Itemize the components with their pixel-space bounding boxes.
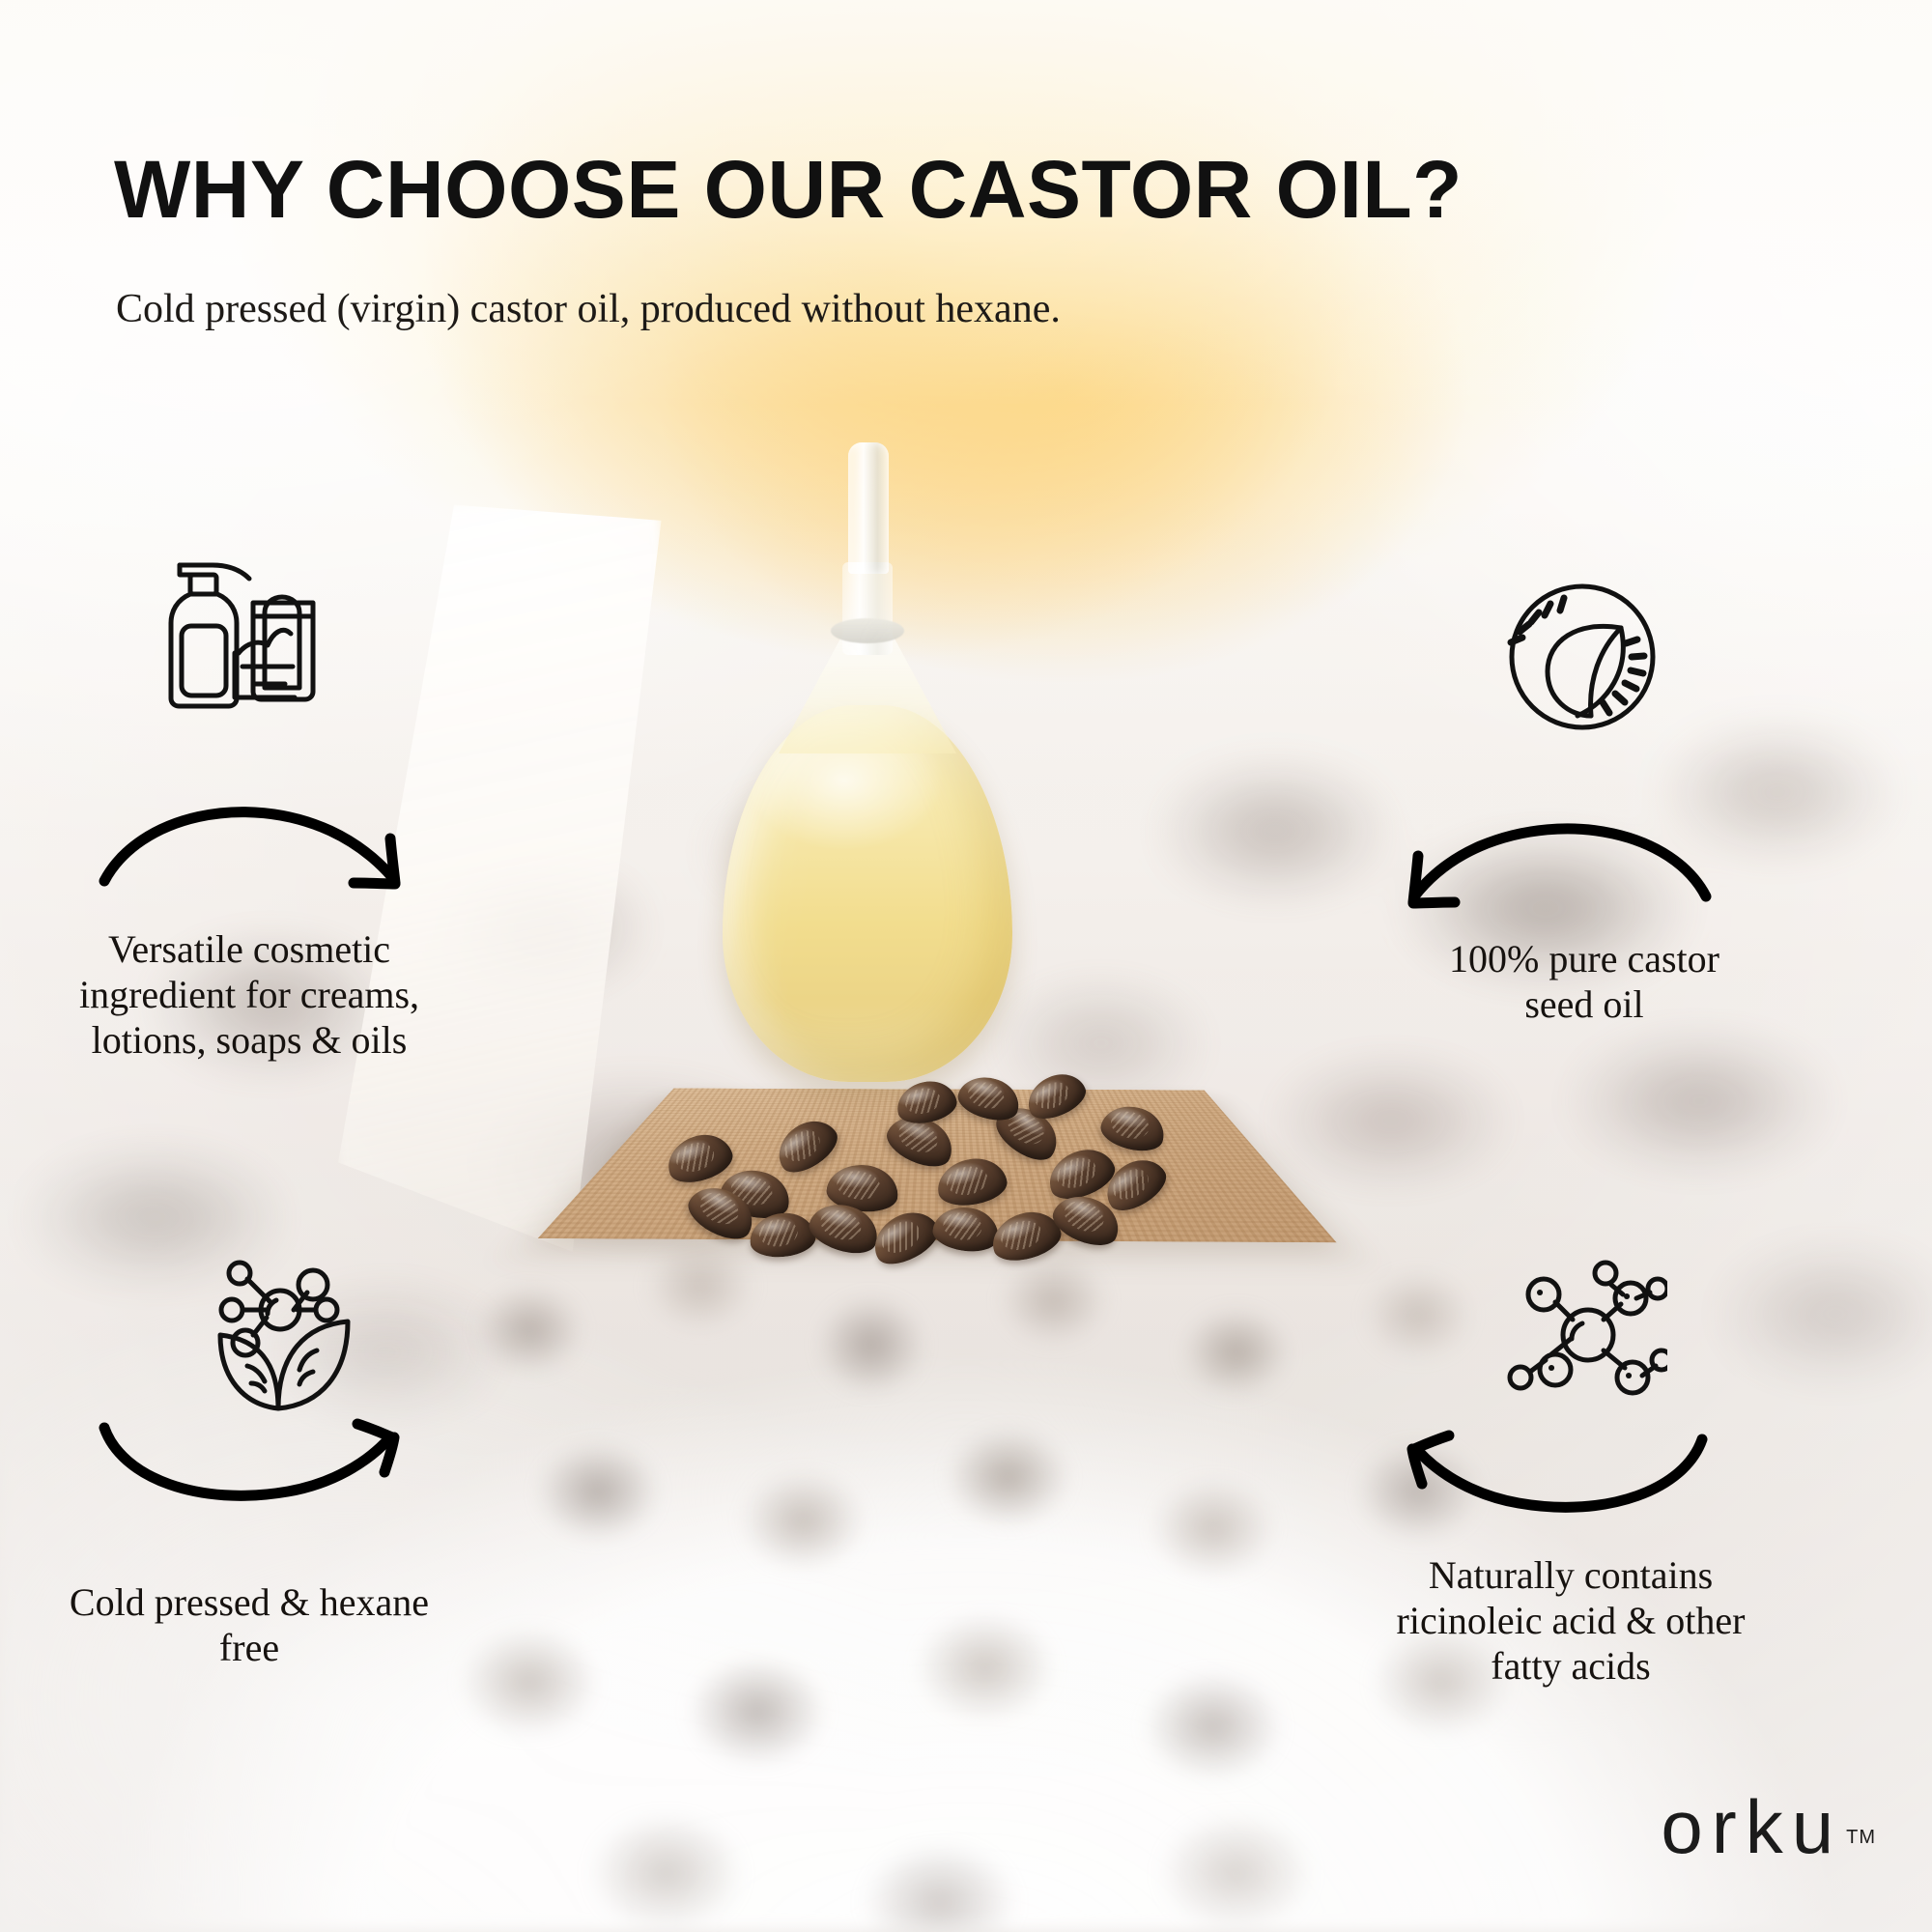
leaf-in-circle-icon [1505,580,1660,734]
page-subtitle: Cold pressed (virgin) castor oil, produc… [116,286,1061,332]
oil-bottle-body [723,705,1012,1082]
molecule-icon [1495,1252,1667,1418]
curved-arrow-right-down-icon [100,794,419,908]
product-photo [502,502,1410,1236]
castor-seed-pile [647,1043,1207,1265]
cosmetic-bottles-icon [145,543,328,712]
brand-name: orku [1661,1793,1842,1861]
oil-bottle-stopper [848,442,889,574]
curved-arrow-left-down-icon [1391,811,1710,925]
feature-caption-pure-castor-seed-oil: 100% pure castor seed oil [1381,937,1787,1028]
curved-arrow-left-up-icon [1389,1401,1708,1519]
infographic-canvas: WHY CHOOSE OUR CASTOR OIL? Cold pressed … [0,0,1932,1932]
brand-logo: orku TM [1661,1793,1876,1861]
curved-arrow-right-up-icon [99,1389,417,1507]
oil-bottle-collar [831,618,904,643]
feature-caption-versatile-cosmetic: Versatile cosmetic ingredient for creams… [27,927,471,1063]
molecule-leaf-icon [197,1246,363,1412]
trademark-symbol: TM [1846,1827,1876,1849]
page-title: WHY CHOOSE OUR CASTOR OIL? [114,143,1463,237]
feature-caption-cold-pressed-hexane-free: Cold pressed & hexane free [17,1580,481,1671]
feature-caption-ricinoleic-acid: Naturally contains ricinoleic acid & oth… [1329,1553,1812,1689]
